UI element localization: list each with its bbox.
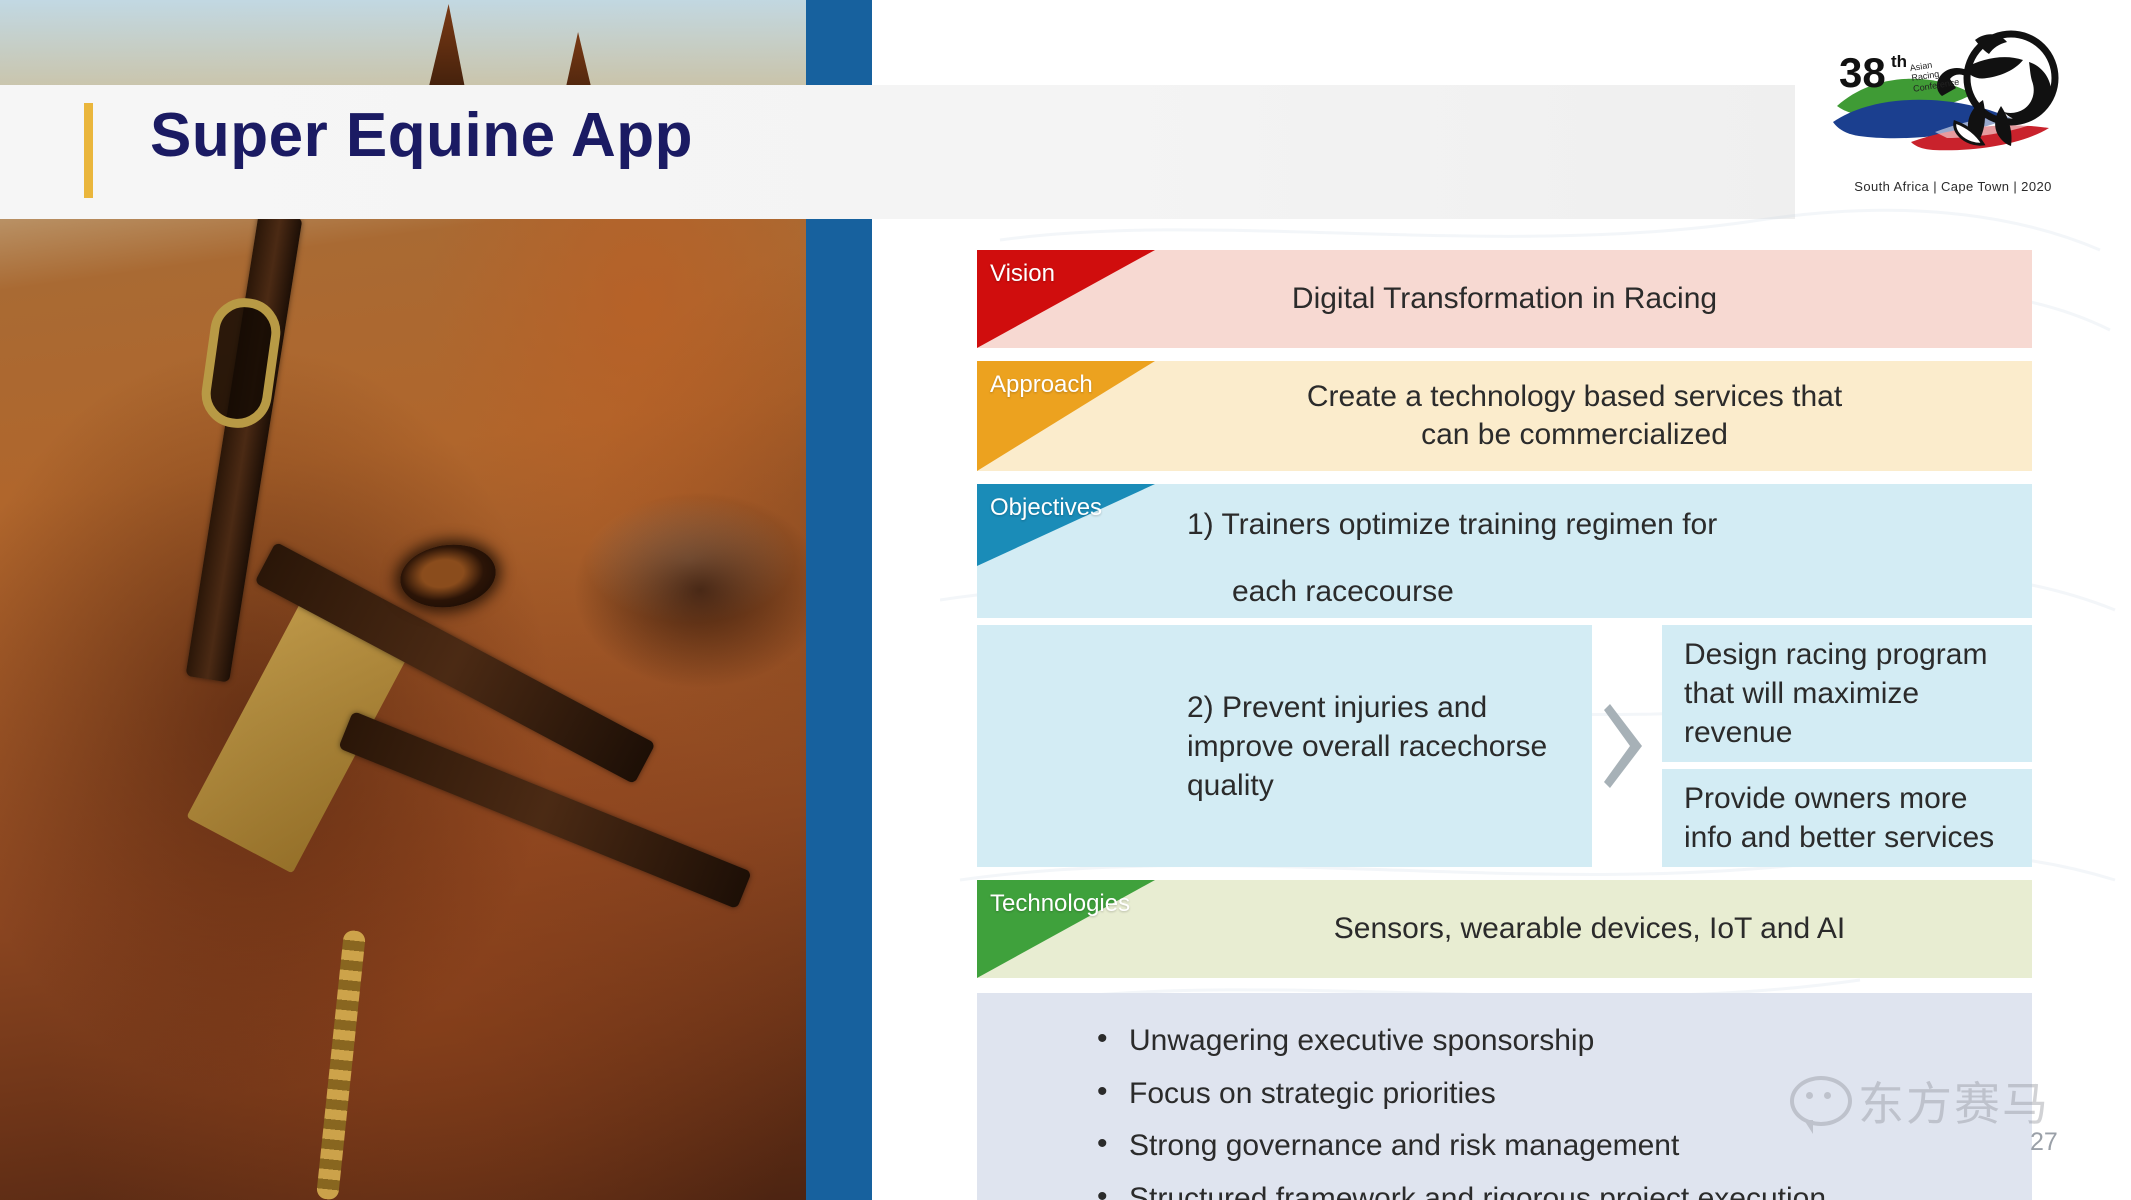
diagram-row-objectives: Objectives 1) Trainers optimize training… — [977, 484, 2032, 867]
technologies-text: Sensors, wearable devices, IoT and AI — [1334, 910, 1845, 948]
vision-text: Digital Transformation in Racing — [1292, 280, 1717, 318]
objectives-top-continuation: each racecourse — [977, 566, 2032, 618]
objective-1-line-1: 1) Trainers optimize training regimen fo… — [1187, 506, 1717, 544]
approach-text-line-2: can be commercialized — [1307, 416, 1842, 454]
objective-1-line-2: each racecourse — [1232, 573, 1454, 611]
technologies-tab: Technologies — [977, 880, 1155, 978]
conference-logo: 38 th Asian Racing Conference South Afri… — [1815, 10, 2091, 200]
vision-tab: Vision — [977, 250, 1155, 348]
diagram-row-approach: Approach Create a technology based servi… — [977, 361, 2032, 471]
chevron-right-icon — [1592, 625, 1662, 867]
logo-caption: South Africa | Cape Town | 2020 — [1815, 179, 2091, 194]
page-number: 27 — [2030, 1128, 2058, 1157]
presentation-slide: Super Equine App 38 th Asian Racing Conf… — [0, 0, 2131, 1200]
page-title: Super Equine App — [150, 100, 693, 171]
objective-outcome-1: Design racing program that will maximize… — [1662, 625, 2032, 762]
list-item: Structured framework and rigorous projec… — [1095, 1177, 2002, 1200]
objective-item-2: 2) Prevent injuries and improve overall … — [977, 625, 1592, 867]
bullet-list: Unwagering executive sponsorship Focus o… — [1095, 1019, 2002, 1200]
objectives-bottom: 2) Prevent injuries and improve overall … — [977, 625, 2032, 867]
objectives-label: Objectives — [990, 494, 1102, 522]
objectives-top: Objectives 1) Trainers optimize training… — [977, 484, 2032, 566]
objective-outcomes: Design racing program that will maximize… — [1662, 625, 2032, 867]
approach-tab: Approach — [977, 361, 1155, 471]
vision-label: Vision — [990, 260, 1055, 288]
objectives-tab: Objectives — [977, 484, 1155, 566]
objective-1-line-2-wrap: each racecourse — [1232, 573, 1454, 611]
objective-outcome-2: Provide owners more info and better serv… — [1662, 769, 2032, 867]
title-accent-bar — [84, 103, 93, 198]
diagram-row-technologies: Technologies Sensors, wearable devices, … — [977, 880, 2032, 978]
diagram-row-vision: Vision Digital Transformation in Racing — [977, 250, 2032, 348]
approach-text-line-1: Create a technology based services that — [1307, 378, 1842, 416]
list-item: Strong governance and risk management — [1095, 1124, 2002, 1168]
list-item: Unwagering executive sponsorship — [1095, 1019, 2002, 1063]
objective-item-1: 1) Trainers optimize training regimen fo… — [1187, 506, 1717, 544]
strategy-diagram: Vision Digital Transformation in Racing … — [977, 250, 2032, 1140]
list-item: Focus on strategic priorities — [1095, 1072, 2002, 1116]
approach-label: Approach — [990, 371, 1093, 399]
key-success-factors-box: Unwagering executive sponsorship Focus o… — [977, 993, 2032, 1200]
logo-edition-number: 38 — [1839, 52, 1886, 94]
logo-edition-ordinal: th — [1891, 52, 1907, 72]
technologies-label: Technologies — [990, 890, 1130, 918]
